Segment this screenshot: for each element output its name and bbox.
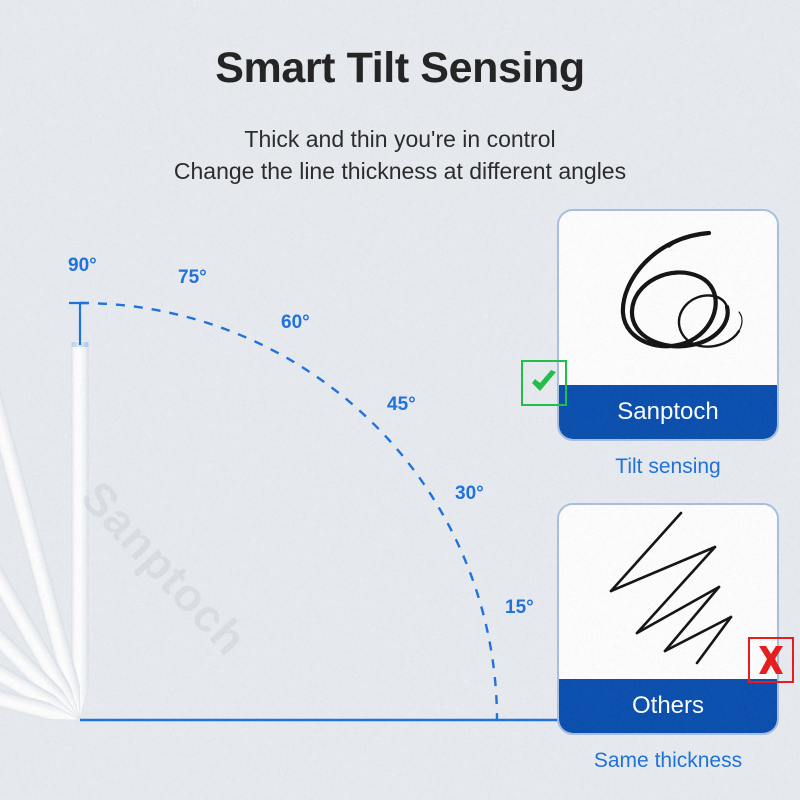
angle-label-30: 30° xyxy=(455,483,484,505)
caption-tilt-sensing: Tilt sensing xyxy=(557,455,779,479)
angle-label-45: 45° xyxy=(387,394,416,416)
angle-label-60: 60° xyxy=(281,312,310,334)
caption-same-thickness: Same thickness xyxy=(557,749,779,773)
card-brand-label: Others xyxy=(559,679,777,733)
stroke-sample-uniform xyxy=(559,505,777,679)
cross-badge xyxy=(748,637,794,683)
close-icon xyxy=(755,644,787,676)
check-badge xyxy=(521,360,567,406)
infographic-stage: Smart Tilt Sensing Thick and thin you're… xyxy=(0,0,800,800)
stroke-sample-variable xyxy=(559,211,777,385)
stylus-pen-90 xyxy=(72,340,89,720)
angle-arc xyxy=(80,303,497,720)
angle-label-75: 75° xyxy=(178,267,207,289)
card-sanptoch[interactable]: Sanptoch xyxy=(557,209,779,441)
angle-label-90: 90° xyxy=(68,255,97,277)
check-icon xyxy=(527,366,561,400)
card-others[interactable]: Others xyxy=(557,503,779,735)
angle-label-15: 15° xyxy=(505,597,534,619)
tilt-angle-fan-diagram xyxy=(0,0,560,800)
card-brand-label: Sanptoch xyxy=(559,385,777,439)
